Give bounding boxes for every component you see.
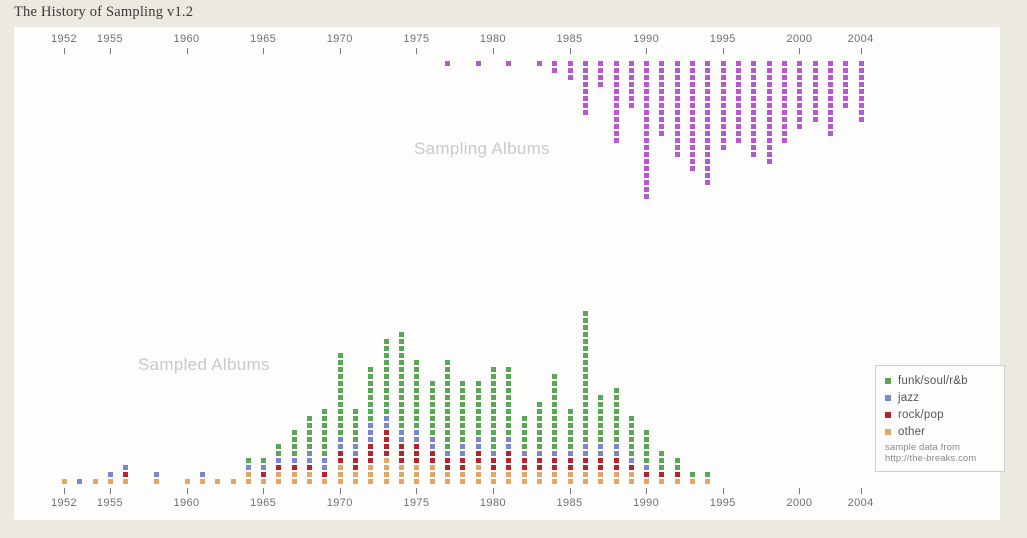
sampled-album-marker [460, 430, 465, 435]
sampled-album-marker [506, 437, 511, 442]
sampling-album-marker [767, 96, 772, 101]
axis-tick-label: 1960 [157, 497, 217, 509]
sampled-album-marker [506, 458, 511, 463]
sampling-album-marker [614, 117, 619, 122]
legend-item[interactable]: jazz [885, 391, 995, 404]
sampling-album-marker [859, 68, 864, 73]
sampled-album-marker [368, 374, 373, 379]
sampling-album-marker [690, 166, 695, 171]
sampled-album-marker [629, 465, 634, 470]
sampled-album-marker [629, 444, 634, 449]
sampling-album-marker [629, 96, 634, 101]
sampling-album-marker [659, 103, 664, 108]
sampling-album-marker [797, 103, 802, 108]
sampling-album-marker [705, 131, 710, 136]
sampled-album-marker [705, 479, 710, 484]
axis-tick-label: 1995 [693, 33, 753, 45]
sampled-album-marker [368, 423, 373, 428]
sampled-album-marker [491, 479, 496, 484]
sampled-album-marker [568, 458, 573, 463]
sampling-album-marker [675, 103, 680, 108]
sampled-album-marker [476, 437, 481, 442]
sampling-album-marker [690, 75, 695, 80]
axis-tick-label: 1965 [233, 497, 293, 509]
sampled-album-marker [430, 388, 435, 393]
sampled-album-marker [583, 339, 588, 344]
sampling-album-marker [843, 103, 848, 108]
sampled-album-marker [506, 409, 511, 414]
sampling-album-marker [782, 103, 787, 108]
sampling-album-marker [568, 68, 573, 73]
sampled-album-marker [399, 339, 404, 344]
sampled-album-marker [368, 458, 373, 463]
sampled-album-marker [476, 444, 481, 449]
sampling-album-marker [828, 89, 833, 94]
sampled-album-marker [292, 437, 297, 442]
sampling-album-marker [705, 82, 710, 87]
sampled-album-marker [506, 395, 511, 400]
sampling-album-marker [690, 131, 695, 136]
axis-tick-label: 1955 [80, 33, 140, 45]
sampled-album-marker [430, 409, 435, 414]
sampling-album-marker [659, 75, 664, 80]
sampled-album-marker [552, 451, 557, 456]
sampling-album-marker [721, 110, 726, 115]
sampling-album-marker [705, 180, 710, 185]
sampled-album-marker [552, 479, 557, 484]
sampled-album-marker [476, 416, 481, 421]
sampling-album-marker [782, 82, 787, 87]
sampling-album-marker [767, 89, 772, 94]
sampling-album-marker [675, 61, 680, 66]
legend-label: funk/soul/r&b [898, 375, 968, 387]
sampled-album-marker [399, 472, 404, 477]
sampled-album-marker [414, 444, 419, 449]
sampled-album-marker [460, 444, 465, 449]
sampled-album-marker [460, 479, 465, 484]
sampling-album-marker [843, 89, 848, 94]
sampled-album-marker [368, 395, 373, 400]
sampled-album-marker [399, 360, 404, 365]
sampled-album-marker [476, 451, 481, 456]
legend: funk/soul/r&bjazzrock/popother sample da… [875, 365, 1005, 472]
sampled-album-marker [491, 423, 496, 428]
sampling-album-marker [767, 159, 772, 164]
sampled-album-marker [292, 444, 297, 449]
sampled-album-marker [568, 479, 573, 484]
axis-tick: 2000 [799, 33, 800, 55]
sampled-album-marker [537, 402, 542, 407]
sampling-album-marker [644, 173, 649, 178]
sampling-album-marker [828, 124, 833, 129]
sampled-album-marker [675, 472, 680, 477]
sampling-album-marker [705, 96, 710, 101]
sampled-album-marker [506, 430, 511, 435]
sampled-album-marker [445, 360, 450, 365]
sampling-album-marker [767, 131, 772, 136]
sampled-album-marker [384, 367, 389, 372]
sampled-album-marker [552, 437, 557, 442]
sampled-album-marker [506, 367, 511, 372]
sampling-album-marker [767, 138, 772, 143]
axis-tick: 2004 [861, 33, 862, 55]
sampled-album-marker [537, 416, 542, 421]
sampling-album-marker [736, 96, 741, 101]
sampled-album-marker [598, 416, 603, 421]
sampling-album-marker [659, 131, 664, 136]
sampled-album-marker [368, 430, 373, 435]
sampling-album-marker [644, 96, 649, 101]
axis-tick-label: 1970 [310, 33, 370, 45]
sampling-album-marker [614, 138, 619, 143]
sampled-album-marker [491, 381, 496, 386]
sampled-album-marker [583, 444, 588, 449]
sampled-album-marker [430, 444, 435, 449]
sampling-album-marker [675, 75, 680, 80]
sampled-album-marker [307, 430, 312, 435]
sampled-album-marker [460, 472, 465, 477]
sampled-album-marker [445, 437, 450, 442]
axis-tick-mark [263, 488, 264, 494]
sampled-album-marker [430, 381, 435, 386]
sampling-album-marker [644, 61, 649, 66]
sampled-album-marker [583, 353, 588, 358]
sampled-album-marker [629, 437, 634, 442]
sampled-album-marker [338, 374, 343, 379]
sampling-album-marker [859, 75, 864, 80]
sampled-album-marker [644, 472, 649, 477]
sampling-album-marker [843, 61, 848, 66]
sampled-album-marker [460, 381, 465, 386]
sampled-album-marker [476, 465, 481, 470]
sampled-album-marker [629, 458, 634, 463]
sampled-album-marker [384, 437, 389, 442]
sampled-album-marker [246, 458, 251, 463]
sampled-album-marker [322, 409, 327, 414]
sampling-album-marker [843, 68, 848, 73]
sampled-album-marker [644, 444, 649, 449]
sampling-album-marker [675, 82, 680, 87]
axis-tick: 1985 [570, 33, 571, 55]
sampled-album-marker [614, 472, 619, 477]
sampled-album-marker [491, 402, 496, 407]
sampling-album-marker [690, 124, 695, 129]
axis-tick-label: 2000 [769, 33, 829, 45]
sampled-album-marker [659, 451, 664, 456]
sampled-album-marker [583, 311, 588, 316]
axis-tick: 1970 [340, 33, 341, 55]
sampled-album-marker [368, 402, 373, 407]
sampling-album-marker [705, 138, 710, 143]
sampling-album-marker [859, 89, 864, 94]
sampling-album-marker [813, 68, 818, 73]
sampled-album-marker [353, 416, 358, 421]
sampled-album-marker [185, 479, 190, 484]
sampling-album-marker [583, 75, 588, 80]
sampling-album-marker [659, 110, 664, 115]
sampled-album-marker [506, 402, 511, 407]
sampling-album-marker [675, 68, 680, 73]
sampled-album-marker [368, 479, 373, 484]
sampled-album-marker [414, 374, 419, 379]
sampling-album-marker [705, 173, 710, 178]
sampling-album-marker [751, 152, 756, 157]
sampling-album-marker [797, 117, 802, 122]
sampling-album-marker [736, 68, 741, 73]
sampled-album-marker [399, 479, 404, 484]
sampled-album-marker [614, 465, 619, 470]
sampling-album-marker [583, 61, 588, 66]
sampled-album-marker [583, 388, 588, 393]
sampled-album-marker [399, 465, 404, 470]
sampled-album-marker [644, 430, 649, 435]
sampled-album-marker [476, 423, 481, 428]
sampled-album-marker [399, 409, 404, 414]
sampled-album-marker [368, 472, 373, 477]
sampled-album-marker [108, 479, 113, 484]
legend-item[interactable]: rock/pop [885, 408, 995, 421]
sampled-album-marker [368, 444, 373, 449]
sampled-album-marker [445, 430, 450, 435]
sampled-album-marker [445, 423, 450, 428]
sampled-album-marker [292, 479, 297, 484]
legend-item[interactable]: funk/soul/r&b [885, 374, 995, 387]
sampled-album-marker [491, 437, 496, 442]
sampled-album-marker [476, 479, 481, 484]
sampled-album-marker [368, 465, 373, 470]
sampling-album-marker [644, 131, 649, 136]
sampled-album-marker [583, 430, 588, 435]
sampling-album-marker [690, 138, 695, 143]
sampling-album-marker [721, 117, 726, 122]
sampling-album-marker [659, 89, 664, 94]
sampled-album-marker [629, 451, 634, 456]
sampled-album-marker [384, 360, 389, 365]
sampled-album-marker [215, 479, 220, 484]
sampled-album-marker [598, 423, 603, 428]
sampled-album-marker [552, 416, 557, 421]
sampled-album-marker [568, 451, 573, 456]
sampling-album-marker [797, 124, 802, 129]
sampled-album-marker [675, 465, 680, 470]
sampling-album-marker [644, 75, 649, 80]
sampling-album-marker [675, 124, 680, 129]
sampled-album-marker [399, 367, 404, 372]
sampling-album-marker [782, 96, 787, 101]
sampled-album-marker [598, 430, 603, 435]
sampled-album-marker [491, 409, 496, 414]
sampled-album-marker [476, 430, 481, 435]
sampled-album-marker [384, 458, 389, 463]
sampling-album-marker [644, 68, 649, 73]
sampled-album-marker [322, 430, 327, 435]
sampling-album-marker [767, 103, 772, 108]
sampled-album-marker [338, 423, 343, 428]
sampled-album-marker [414, 388, 419, 393]
sampled-album-marker [568, 444, 573, 449]
legend-note: sample data from http://the-breaks.com [885, 442, 995, 464]
sampled-album-marker [522, 479, 527, 484]
sampled-album-marker [522, 437, 527, 442]
sampling-album-marker [705, 117, 710, 122]
sampled-album-marker [629, 423, 634, 428]
sampled-album-marker [476, 472, 481, 477]
sampling-album-marker [675, 110, 680, 115]
sampling-album-marker [843, 96, 848, 101]
sampling-album-marker [598, 68, 603, 73]
legend-items: funk/soul/r&bjazzrock/popother [885, 374, 995, 438]
sampled-album-marker [322, 465, 327, 470]
sampling-album-marker [705, 166, 710, 171]
sampled-album-marker [338, 437, 343, 442]
sampling-album-marker [629, 103, 634, 108]
sampled-album-marker [537, 451, 542, 456]
sampling-album-marker [721, 61, 726, 66]
sampled-album-marker [598, 458, 603, 463]
axis-tick-mark [493, 488, 494, 494]
sampled-album-marker [552, 444, 557, 449]
axis-tick: 1970 [340, 488, 341, 510]
sampled-album-marker [537, 472, 542, 477]
sampled-album-marker [384, 472, 389, 477]
sampling-album-marker [782, 131, 787, 136]
sampling-album-marker [767, 145, 772, 150]
sampled-album-marker [583, 479, 588, 484]
sampled-album-marker [338, 353, 343, 358]
sampled-album-marker [338, 409, 343, 414]
sampled-album-marker [598, 395, 603, 400]
sampled-album-marker [261, 465, 266, 470]
sampling-album-marker [659, 61, 664, 66]
sampling-album-marker [797, 89, 802, 94]
sampled-album-marker [307, 479, 312, 484]
sampling-album-marker [644, 117, 649, 122]
sampled-album-marker [399, 444, 404, 449]
sampled-album-marker [568, 437, 573, 442]
sampling-album-marker [767, 82, 772, 87]
sampled-album-marker [690, 479, 695, 484]
sampling-album-marker [675, 145, 680, 150]
sampled-album-marker [491, 416, 496, 421]
sampled-album-marker [307, 416, 312, 421]
sampled-album-marker [384, 374, 389, 379]
sampled-album-marker [583, 381, 588, 386]
sampling-album-marker [751, 117, 756, 122]
axis-tick-label: 2004 [831, 497, 891, 509]
sampled-album-marker [476, 402, 481, 407]
axis-tick: 1965 [263, 33, 264, 55]
sampled-album-marker [491, 367, 496, 372]
sampled-album-marker [583, 318, 588, 323]
sampling-album-marker [644, 166, 649, 171]
sampled-album-marker [659, 458, 664, 463]
sampled-album-marker [598, 451, 603, 456]
sampling-album-marker [797, 68, 802, 73]
sampled-album-marker [583, 402, 588, 407]
sampled-album-marker [430, 416, 435, 421]
sampling-album-marker [813, 89, 818, 94]
sampled-album-marker [123, 472, 128, 477]
sampled-album-marker [353, 437, 358, 442]
legend-swatch-icon [885, 378, 891, 384]
sampled-album-marker [368, 437, 373, 442]
sampling-album-marker [736, 75, 741, 80]
sampling-album-marker [736, 89, 741, 94]
sampled-album-marker [583, 451, 588, 456]
sampling-album-marker [614, 75, 619, 80]
sampled-album-marker [445, 402, 450, 407]
sampling-album-marker [736, 61, 741, 66]
sampling-album-marker [751, 110, 756, 115]
sampling-album-marker [751, 145, 756, 150]
sampled-album-marker [399, 437, 404, 442]
sampled-album-marker [506, 374, 511, 379]
sampling-album-marker [690, 61, 695, 66]
sampled-album-marker [583, 458, 588, 463]
axis-tick-label: 1955 [80, 497, 140, 509]
legend-item[interactable]: other [885, 425, 995, 438]
sampled-album-marker [384, 346, 389, 351]
sampled-album-marker [307, 465, 312, 470]
sampled-album-marker [445, 416, 450, 421]
sampling-album-marker [659, 124, 664, 129]
sampling-album-marker [721, 89, 726, 94]
sampled-album-marker [384, 339, 389, 344]
sampled-album-marker [322, 437, 327, 442]
sampling-album-marker [614, 124, 619, 129]
axis-tick-label: 1970 [310, 497, 370, 509]
legend-swatch-icon [885, 395, 891, 401]
sampled-album-marker [445, 395, 450, 400]
sampling-albums-label: Sampling Albums [414, 139, 550, 159]
sampling-album-marker [690, 82, 695, 87]
sampled-album-marker [399, 451, 404, 456]
sampled-album-marker [522, 444, 527, 449]
sampled-album-marker [353, 444, 358, 449]
sampling-album-marker [782, 89, 787, 94]
sampled-album-marker [552, 472, 557, 477]
sampling-album-marker [690, 96, 695, 101]
sampled-album-marker [338, 416, 343, 421]
sampling-album-marker [767, 68, 772, 73]
axis-tick-mark [799, 488, 800, 494]
sampled-album-marker [552, 388, 557, 393]
sampled-album-marker [659, 472, 664, 477]
sampled-album-marker [598, 437, 603, 442]
sampled-album-marker [368, 409, 373, 414]
sampled-album-marker [414, 479, 419, 484]
sampling-album-marker [767, 110, 772, 115]
sampling-album-marker [659, 117, 664, 122]
sampled-album-marker [506, 444, 511, 449]
sampled-album-marker [414, 472, 419, 477]
sampling-album-marker [644, 180, 649, 185]
sampled-album-marker [614, 416, 619, 421]
axis-tick-mark [646, 48, 647, 54]
sampled-album-marker [62, 479, 67, 484]
sampling-album-marker [659, 82, 664, 87]
sampled-album-marker [598, 402, 603, 407]
axis-tick-mark [340, 48, 341, 54]
sampling-album-marker [690, 68, 695, 73]
sampled-album-marker [338, 458, 343, 463]
sampled-album-marker [583, 423, 588, 428]
sampled-albums-label: Sampled Albums [138, 355, 270, 375]
legend-note-line2[interactable]: http://the-breaks.com [885, 453, 995, 464]
sampled-album-marker [77, 479, 82, 484]
sampled-album-marker [338, 472, 343, 477]
axis-tick: 1975 [416, 33, 417, 55]
